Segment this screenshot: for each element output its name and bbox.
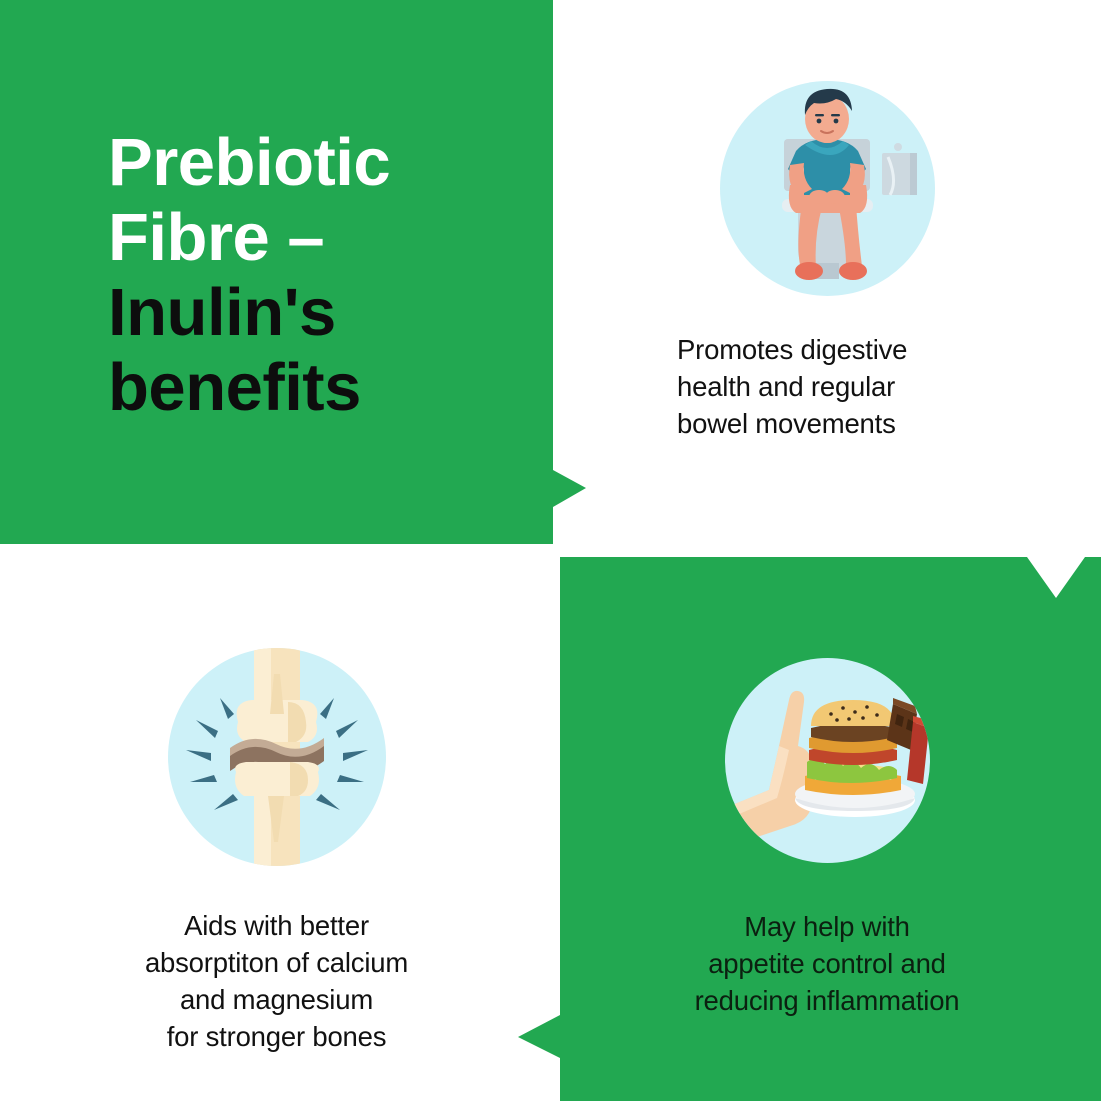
benefit-card-digestive-health: Promotes digestive health and regular bo… xyxy=(553,0,1101,550)
title-line-3: Inulin's xyxy=(108,275,553,350)
benefit-text-digestive-health: Promotes digestive health and regular bo… xyxy=(677,332,997,443)
title-line-4: benefits xyxy=(108,350,553,425)
hand-refusing-junk-food-illustration xyxy=(725,658,930,863)
title-line-2: Fibre – xyxy=(108,200,553,275)
benefit-card-appetite-inflammation: May help with appetite control and reduc… xyxy=(553,550,1101,1101)
page-title: Prebiotic Fibre – Inulin's benefits xyxy=(108,125,553,425)
person-on-toilet-illustration xyxy=(720,81,935,296)
infographic-root: Prebiotic Fibre – Inulin's benefits xyxy=(0,0,1101,1101)
title-line-1: Prebiotic xyxy=(108,125,553,200)
title-panel: Prebiotic Fibre – Inulin's benefits xyxy=(0,0,553,550)
benefit-card-mineral-absorption: Aids with better absorptiton of calcium … xyxy=(0,550,553,1101)
knee-joint-bone-illustration xyxy=(168,648,386,866)
benefit-text-mineral-absorption: Aids with better absorptiton of calcium … xyxy=(42,908,512,1055)
benefit-text-appetite-inflammation: May help with appetite control and reduc… xyxy=(612,909,1042,1020)
